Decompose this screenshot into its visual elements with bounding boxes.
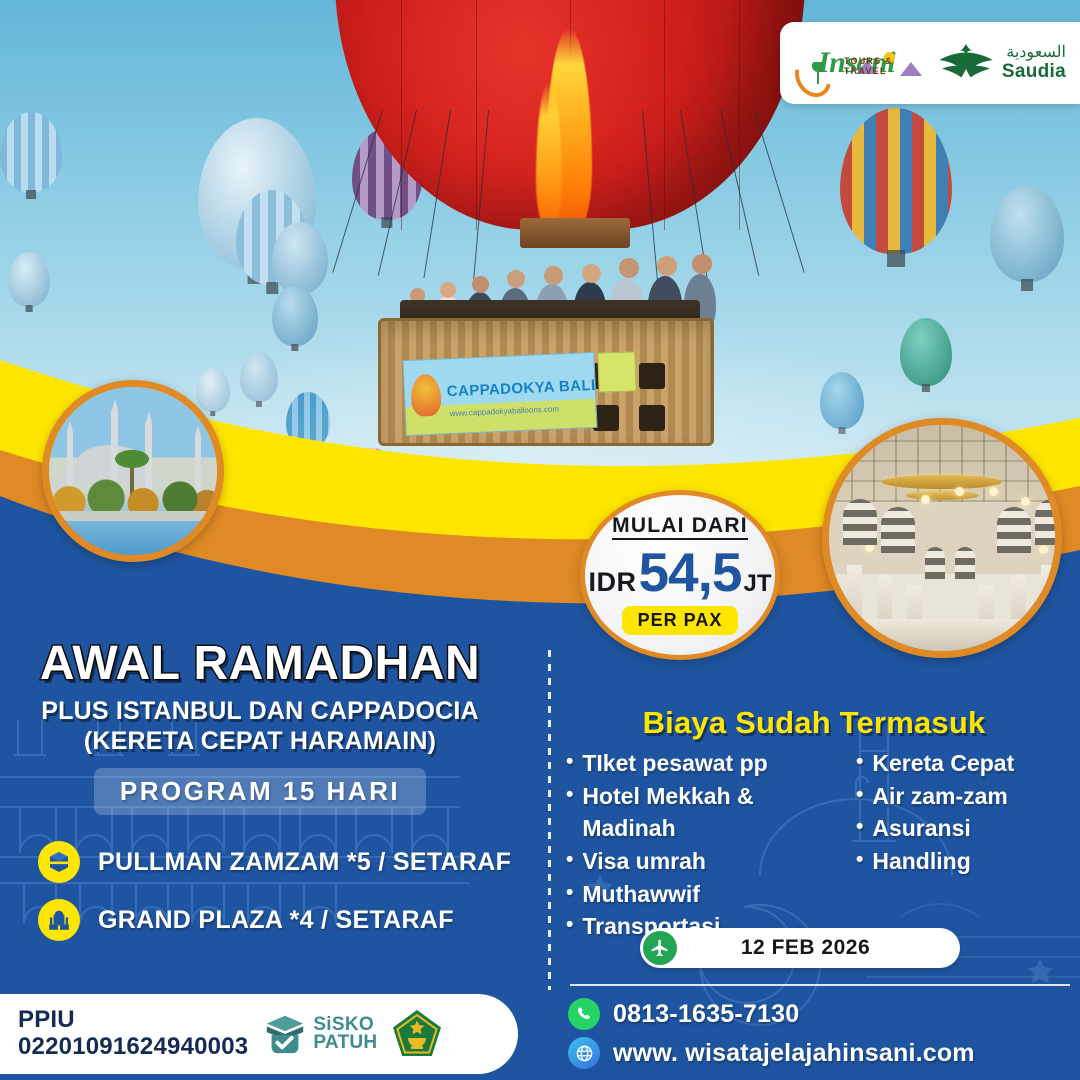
package-info-column: AWAL RAMADHAN PLUS ISTANBUL DAN CAPPADOC… <box>0 640 520 957</box>
passenger-head <box>507 270 525 288</box>
price-unit: JT <box>744 570 772 598</box>
mosque-dome-icon <box>38 899 80 941</box>
insani-tagline: TOURS & TRAVEL <box>844 56 927 76</box>
price-amount: 54,5 <box>638 549 741 596</box>
kaaba-icon <box>38 841 80 883</box>
chandelier <box>882 475 1002 489</box>
passenger-head <box>582 264 601 283</box>
palm-tree-icon <box>810 62 826 84</box>
package-subtitle-2: (KERETA CEPAT HARAMAIN) <box>0 727 520 757</box>
price-per-pax: PER PAX <box>622 606 739 635</box>
list-item: •Muthawwif <box>566 878 846 911</box>
nabawi-photo-circle <box>822 418 1062 658</box>
inclusion-label: Visa umrah <box>582 845 706 878</box>
list-item: •Visa umrah <box>566 845 846 878</box>
passenger-head <box>472 276 489 293</box>
contact-block: 0813-1635-7130 www. wisatajelajahinsani.… <box>568 998 975 1076</box>
inclusion-label: Handling <box>872 845 970 878</box>
chandelier-inner <box>905 491 979 500</box>
departure-date-badge: 12 FEB 2026 <box>640 928 960 968</box>
list-item: •Handling <box>856 845 1066 878</box>
bullet-icon: • <box>566 780 573 809</box>
whatsapp-icon[interactable] <box>568 998 600 1030</box>
nabawi-photo <box>829 425 1055 651</box>
globe-icon[interactable] <box>568 1037 600 1069</box>
passenger-head <box>619 258 639 278</box>
inclusion-label: Air zam-zam <box>872 780 1007 813</box>
airplane-icon <box>643 931 677 965</box>
inclusion-label: Muthawwif <box>582 878 700 911</box>
hotel-item: PULLMAN ZAMZAM *5 / SETARAF <box>38 841 520 883</box>
bullet-icon: • <box>856 812 863 841</box>
bullet-icon: • <box>856 845 863 874</box>
website-url[interactable]: www. wisatajelajahinsani.com <box>613 1039 975 1068</box>
inclusions-heading: Biaya Sudah Termasuk <box>548 705 1080 741</box>
brand-logo-card: Insani TOURS & TRAVEL السعودية Saudia <box>780 22 1080 104</box>
bullet-icon: • <box>566 747 573 776</box>
list-item: •Asuransi <box>856 812 1066 845</box>
kemenag-logo-icon <box>391 1008 443 1060</box>
price-badge: MULAI DARI IDR 54,5 JT PER PAX <box>580 490 780 660</box>
ppiu-number: 02201091624940003 <box>18 1034 248 1061</box>
passenger-head <box>440 282 456 298</box>
passenger-head <box>544 266 563 285</box>
istanbul-photo-circle <box>42 380 224 562</box>
ppiu-label: PPIU <box>18 1007 248 1034</box>
passenger-head <box>657 256 677 276</box>
accreditation-footer: PPIU 02201091624940003 SiSKO PATUH <box>0 994 518 1074</box>
inclusion-label: Kereta Cepat <box>872 747 1014 780</box>
list-item: •Kereta Cepat <box>856 747 1066 780</box>
program-duration-badge: PROGRAM 15 HARI <box>94 768 426 815</box>
sisko-patuh-logo: SiSKO PATUH <box>262 1011 377 1057</box>
list-item: •Hotel Mekkah & Madinah <box>566 780 846 845</box>
list-item: •Air zam-zam <box>856 780 1066 813</box>
phone-row[interactable]: 0813-1635-7130 <box>568 998 975 1030</box>
departure-date: 12 FEB 2026 <box>677 936 960 960</box>
saudia-arabic-text: السعودية <box>1002 45 1066 62</box>
website-row[interactable]: www. wisatajelajahinsani.com <box>568 1037 975 1069</box>
saudia-wings-icon <box>937 42 995 84</box>
saudia-logo: السعودية Saudia <box>937 42 1066 84</box>
list-item: •TIket pesawat pp <box>566 747 846 780</box>
inclusion-label: Asuransi <box>872 812 970 845</box>
inclusion-label: TIket pesawat pp <box>582 747 767 780</box>
insani-logo: Insani TOURS & TRAVEL <box>800 48 927 78</box>
bullet-icon: • <box>856 747 863 776</box>
bullet-icon: • <box>566 845 573 874</box>
inclusions-column: Biaya Sudah Termasuk •TIket pesawat pp •… <box>548 705 1080 943</box>
package-subtitle-1: PLUS ISTANBUL DAN CAPPADOCIA <box>0 697 520 727</box>
inclusion-label: Hotel Mekkah & Madinah <box>582 780 846 845</box>
footer-bar <box>0 1074 1080 1080</box>
contact-divider <box>570 984 1070 986</box>
inclusions-left-list: •TIket pesawat pp •Hotel Mekkah & Madina… <box>566 747 846 943</box>
phone-number[interactable]: 0813-1635-7130 <box>613 1000 799 1029</box>
hotel-name: PULLMAN ZAMZAM *5 / SETARAF <box>98 848 511 877</box>
hotel-item: GRAND PLAZA *4 / SETARAF <box>38 899 520 941</box>
sisko-line-2: PATUH <box>313 1034 377 1052</box>
bullet-icon: • <box>566 910 573 939</box>
saudia-latin-text: Saudia <box>1002 62 1066 81</box>
istanbul-photo <box>49 387 217 555</box>
balloon-rigging <box>330 110 810 280</box>
price-label: MULAI DARI <box>612 515 748 540</box>
sisko-shield-icon <box>262 1011 308 1057</box>
hotel-name: GRAND PLAZA *4 / SETARAF <box>98 906 454 935</box>
ppiu-block: PPIU 02201091624940003 <box>18 1007 248 1061</box>
price-currency: IDR <box>588 567 636 598</box>
hotel-list: PULLMAN ZAMZAM *5 / SETARAF GRAND PLAZA … <box>0 841 520 941</box>
passenger-head <box>692 254 712 274</box>
poster-canvas: CAPPADOKYA BALLOONS www.cappadokyaballoo… <box>0 0 1080 1080</box>
inclusions-right-list: •Kereta Cepat •Air zam-zam •Asuransi •Ha… <box>856 747 1066 943</box>
bullet-icon: • <box>566 878 573 907</box>
bullet-icon: • <box>856 780 863 809</box>
page-title: AWAL RAMADHAN <box>0 640 520 688</box>
